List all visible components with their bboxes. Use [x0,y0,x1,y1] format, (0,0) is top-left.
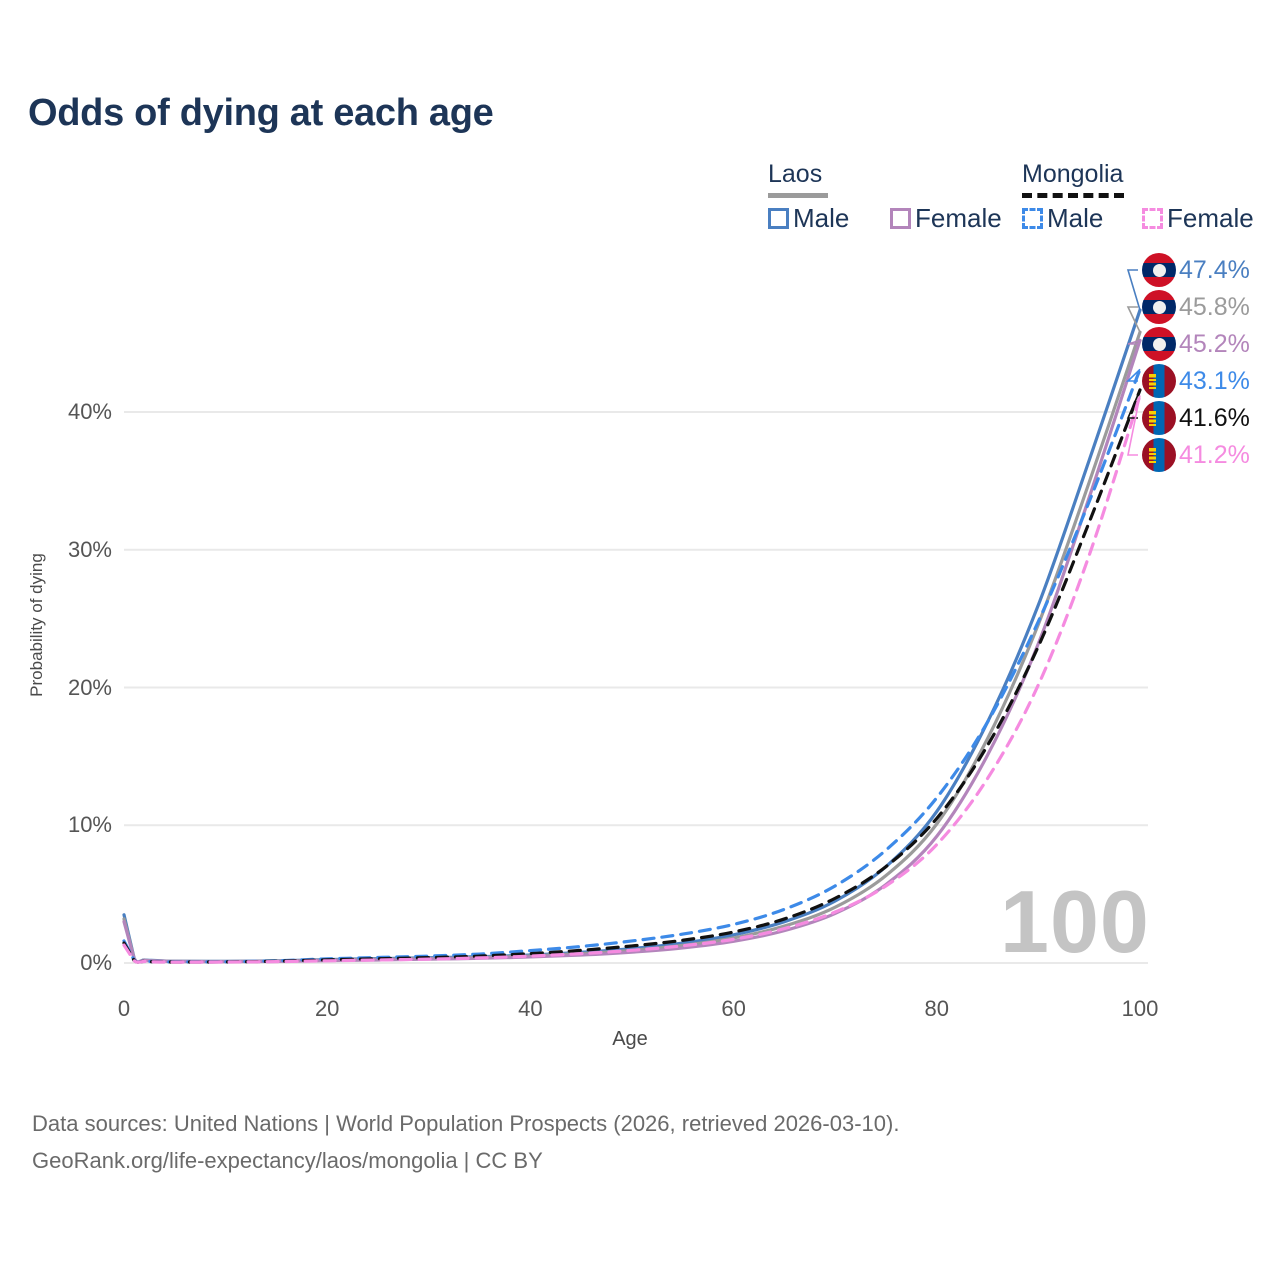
series-lines [124,310,1140,962]
end-label-value: 45.8% [1179,295,1250,320]
watermark-label: 100 [1000,878,1150,966]
end-label-mongolia-male[interactable]: 43.1% [1142,363,1250,399]
x-tick-label: 100 [1080,996,1200,1022]
end-label-value: 47.4% [1179,258,1250,283]
mongolia-flag-icon [1142,438,1176,472]
laos-flag-icon [1142,290,1176,324]
series-line [124,369,1140,962]
end-label-mongolia-female[interactable]: 41.2% [1142,437,1250,473]
series-end-labels: 47.4% 45.8% 45.2% 43.1% 41.6% 41.2% [1142,252,1280,477]
y-tick-label: 40% [0,399,112,425]
y-tick-label: 30% [0,537,112,563]
end-label-value: 45.2% [1179,332,1250,357]
x-tick-label: 0 [64,996,184,1022]
y-tick-label: 0% [0,950,112,976]
end-label-laos-both[interactable]: 45.8% [1142,289,1250,325]
plot-svg [0,0,1280,1280]
end-label-laos-male[interactable]: 47.4% [1142,252,1250,288]
gridlines [124,412,1148,963]
x-tick-label: 40 [470,996,590,1022]
footer-line-2: GeoRank.org/life-expectancy/laos/mongoli… [32,1142,899,1179]
x-tick-label: 80 [877,996,997,1022]
y-tick-label: 20% [0,675,112,701]
y-tick-label: 10% [0,812,112,838]
plot-area: 100 Probability of dying Age 0%10%20%30%… [0,0,1280,1280]
x-tick-label: 20 [267,996,387,1022]
end-label-value: 41.6% [1179,406,1250,431]
end-label-value: 43.1% [1179,369,1250,394]
mongolia-flag-icon [1142,364,1176,398]
chart-page: Odds of dying at each age Laos Mongolia … [0,0,1280,1280]
footer-line-1: Data sources: United Nations | World Pop… [32,1105,899,1142]
footer-sources: Data sources: United Nations | World Pop… [32,1105,899,1180]
end-label-mongolia-both[interactable]: 41.6% [1142,400,1250,436]
series-line [124,390,1140,962]
series-line [124,332,1140,962]
x-tick-label: 60 [674,996,794,1022]
laos-flag-icon [1142,253,1176,287]
end-label-value: 41.2% [1179,443,1250,468]
series-line [124,340,1140,962]
mongolia-flag-icon [1142,401,1176,435]
leader-line [1128,270,1140,310]
laos-flag-icon [1142,327,1176,361]
series-line [124,395,1140,962]
x-axis-label: Age [520,1028,740,1051]
series-line [124,310,1140,962]
end-label-laos-female[interactable]: 45.2% [1142,326,1250,362]
